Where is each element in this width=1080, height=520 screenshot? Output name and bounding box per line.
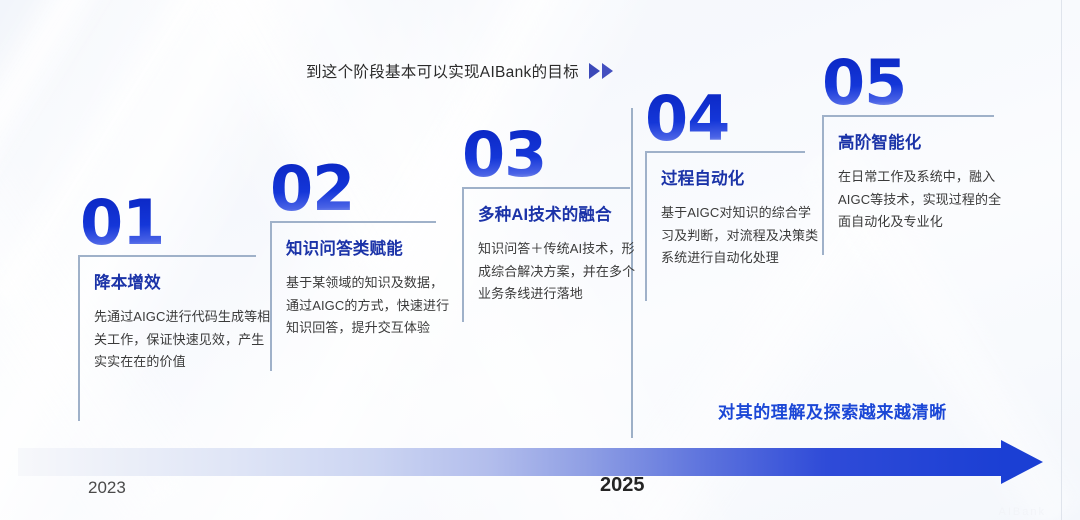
year-label-end: 2025 (600, 474, 645, 497)
card-left-rule (645, 151, 647, 301)
stage-card-04: 过程自动化 基于AIGC对知识的综合学习及判断，对流程及决策类系统进行自动化处理 (645, 151, 821, 269)
card-top-rule (822, 115, 994, 117)
stage-column-02: 02 知识问答类赋能 基于某领域的知识及数据，通过AIGC的方式，快速进行知识回… (270, 162, 452, 339)
stage-body-05: 在日常工作及系统中，融入AIGC等技术，实现过程的全面自动化及专业化 (838, 166, 1010, 233)
stage-card-03: 多种AI技术的融合 知识问答＋传统AI技术，形成综合解决方案，并在多个业务条线进… (462, 187, 646, 305)
card-left-rule (462, 187, 464, 322)
card-top-rule (78, 255, 256, 257)
card-top-rule (462, 187, 630, 189)
timeline-arrow (18, 440, 1062, 484)
year-label-start: 2023 (88, 478, 126, 498)
stage-number-01: 01 (80, 196, 272, 249)
stage-card-05: 高阶智能化 在日常工作及系统中，融入AIGC等技术，实现过程的全面自动化及专业化 (822, 115, 1010, 233)
chevron-right-icon (589, 63, 600, 79)
progress-label: 对其的理解及探索越来越清晰 (718, 398, 947, 423)
stage-number-05: 05 (822, 56, 1010, 109)
stage-card-02: 知识问答类赋能 基于某领域的知识及数据，通过AIGC的方式，快速进行知识回答，提… (270, 221, 452, 339)
stage-title-01: 降本增效 (94, 269, 272, 293)
card-top-rule (270, 221, 436, 223)
top-caption: 到这个阶段基本可以实现AIBank的目标 (306, 60, 613, 82)
chevron-right-icon (602, 63, 613, 79)
stage-column-03: 03 多种AI技术的融合 知识问答＋传统AI技术，形成综合解决方案，并在多个业务… (462, 128, 646, 305)
stage-title-04: 过程自动化 (661, 165, 821, 189)
stage-title-05: 高阶智能化 (838, 129, 1010, 153)
stage-number-02: 02 (270, 162, 452, 215)
stage-column-05: 05 高阶智能化 在日常工作及系统中，融入AIGC等技术，实现过程的全面自动化及… (822, 56, 1010, 233)
stage-number-03: 03 (462, 128, 646, 181)
card-left-rule (822, 115, 824, 255)
stage-title-03: 多种AI技术的融合 (478, 201, 646, 225)
top-caption-text: 到这个阶段基本可以实现AIBank的目标 (306, 60, 579, 82)
stage-column-04: 04 过程自动化 基于AIGC对知识的综合学习及判断，对流程及决策类系统进行自动… (645, 92, 821, 269)
stage-number-04: 04 (645, 92, 821, 145)
double-chevron-right-icon (589, 63, 613, 79)
stage-body-03: 知识问答＋传统AI技术，形成综合解决方案，并在多个业务条线进行落地 (478, 238, 646, 305)
slide-canvas: 到这个阶段基本可以实现AIBank的目标 01 降本增效 先通过AIGC进行代码… (0, 0, 1080, 520)
stage-column-01: 01 降本增效 先通过AIGC进行代码生成等相关工作，保证快速见效，产生实实在在… (78, 196, 272, 373)
card-top-rule (645, 151, 805, 153)
stage-body-04: 基于AIGC对知识的综合学习及判断，对流程及决策类系统进行自动化处理 (661, 202, 821, 269)
stage-body-02: 基于某领域的知识及数据，通过AIGC的方式，快速进行知识回答，提升交互体验 (286, 272, 452, 339)
timeline-bar (18, 448, 1003, 476)
right-arrow-icon (1001, 440, 1043, 484)
card-left-rule (270, 221, 272, 371)
stage-card-01: 降本增效 先通过AIGC进行代码生成等相关工作，保证快速见效，产生实实在在的价值 (78, 255, 272, 373)
stage-body-01: 先通过AIGC进行代码生成等相关工作，保证快速见效，产生实实在在的价值 (94, 306, 272, 373)
watermark-text: AIBank (999, 506, 1046, 518)
card-left-rule (78, 255, 80, 421)
stage-title-02: 知识问答类赋能 (286, 235, 452, 259)
